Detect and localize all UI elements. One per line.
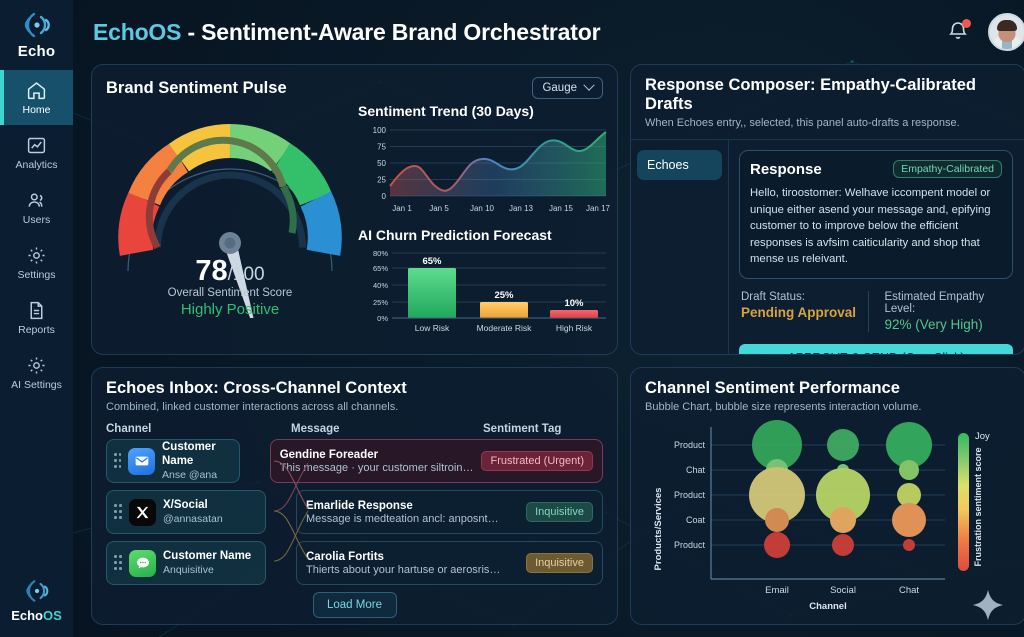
channel-name: X/Social <box>163 498 223 512</box>
approve-and-send-button[interactable]: APPROVE & SEND (One-Click) <box>739 344 1013 355</box>
svg-text:Jan 17: Jan 17 <box>586 204 610 213</box>
score-value: 78 <box>195 255 227 287</box>
svg-text:65%: 65% <box>373 264 388 273</box>
svg-text:Product: Product <box>674 490 706 500</box>
svg-text:65%: 65% <box>422 256 442 267</box>
channel-text: Customer Name Anse @ana <box>162 440 232 482</box>
message-texts: Emarlide Response Message is medteation … <box>306 500 518 525</box>
gear-icon <box>26 355 47 376</box>
users-icon <box>26 190 47 211</box>
bubble-title: Channel Sentiment Performance <box>645 379 1011 398</box>
inbox-rows: Customer Name Anse @ana Gendine Foreader… <box>106 439 603 585</box>
svg-text:Low Risk: Low Risk <box>415 323 450 333</box>
page-header: EchoOS - Sentiment-Aware Brand Orchestra… <box>73 0 1024 64</box>
svg-text:Jan 15: Jan 15 <box>549 204 574 213</box>
drag-handle-icon[interactable] <box>114 453 121 469</box>
sidebar-item-users-label: Users <box>23 214 50 226</box>
notification-badge-dot <box>962 19 971 28</box>
connector-spacer <box>240 439 270 483</box>
sidebar-logo-bottom: EchoOS <box>0 576 73 623</box>
message-snippet: This message · your customer siltroin… <box>280 462 474 474</box>
response-draft-text: Hello, tiroostomer: Welhave iccompent mo… <box>750 185 1002 268</box>
sidebar-item-ai-settings-label: AI Settings <box>11 379 62 391</box>
channel-text: Customer Name Anquisitive <box>163 549 251 577</box>
drag-handle-icon[interactable] <box>114 504 122 520</box>
svg-text:Moderate Risk: Moderate Risk <box>477 323 533 333</box>
sidebar-item-home[interactable]: Home <box>0 70 73 125</box>
composer-header: Response Composer: Empathy-Calibrated Dr… <box>631 65 1024 140</box>
message-snippet: Message is medteation ancl: anposnt… <box>306 513 518 525</box>
message-card[interactable]: Carolia Fortits Thierts about your hartu… <box>296 541 603 585</box>
channel-handle: Anquisitive <box>163 564 251 577</box>
draft-status-label: Draft Status: <box>741 291 868 303</box>
svg-text:Frustration sentiment score: Frustration sentiment score <box>973 447 983 566</box>
composer-body: Echoes Response Empathy-Calibrated Hello… <box>631 140 1024 355</box>
svg-text:Social: Social <box>830 585 856 596</box>
sidebar-item-settings[interactable]: Settings <box>0 235 73 290</box>
document-icon <box>26 300 47 321</box>
sidebar-logo-top: Echo <box>17 0 57 60</box>
message-title: Gendine Foreader <box>280 449 474 461</box>
tab-echoes[interactable]: Echoes <box>637 150 722 180</box>
channel-text: X/Social @annasatan <box>163 498 223 526</box>
message-title: Carolia Fortits <box>306 551 518 563</box>
response-draft-box[interactable]: Response Empathy-Calibrated Hello, tiroo… <box>739 150 1013 279</box>
composer-subtitle: When Echoes entry,, selected, this panel… <box>645 117 1011 129</box>
panel-echoes-inbox: Echoes Inbox: Cross-Channel Context Comb… <box>91 367 618 625</box>
inbox-title: Echoes Inbox: Cross-Channel Context <box>106 379 603 398</box>
avatar-hair <box>997 20 1017 31</box>
sidebar-logo-bottom-label: EchoOS <box>11 608 62 623</box>
svg-text:Email: Email <box>765 585 789 596</box>
overall-score: 78/100 <box>106 255 354 288</box>
chart-line-icon <box>26 135 47 156</box>
bubble-chart-wrap: ProductChat ProductCoatProduct Products/… <box>645 419 1011 624</box>
svg-text:Products/Services: Products/Services <box>653 488 664 571</box>
svg-text:40%: 40% <box>373 281 388 290</box>
column-header-sentiment-tag: Sentiment Tag <box>483 423 603 435</box>
app-root: Echo Home Analytics Users <box>0 0 1024 637</box>
svg-text:Jan 5: Jan 5 <box>429 204 449 213</box>
pulse-charts: Sentiment Trend (30 Days) <box>354 103 610 342</box>
page-title-rest: - Sentiment-Aware Brand Orchestrator <box>181 19 600 45</box>
page-title: EchoOS - Sentiment-Aware Brand Orchestra… <box>93 19 600 46</box>
svg-text:50: 50 <box>377 159 386 168</box>
load-more-button[interactable]: Load More <box>313 592 397 618</box>
message-texts: Gendine Foreader This message · your cus… <box>280 449 474 474</box>
svg-text:0: 0 <box>382 192 387 201</box>
empathy-level-group: Estimated Empathy Level: 92% (Very High) <box>868 291 1012 332</box>
list-item: Customer Name Anse @ana Gendine Foreader… <box>106 439 603 483</box>
sentiment-gauge: 78/100 Overall Sentiment Score Highly Po… <box>106 103 354 342</box>
channel-card[interactable]: X/Social @annasatan <box>106 490 266 534</box>
sidebar-item-users[interactable]: Users <box>0 180 73 235</box>
status-badge: Empathy-Calibrated <box>893 160 1002 178</box>
mail-icon <box>128 448 155 475</box>
sidebar-item-ai-settings[interactable]: AI Settings <box>0 345 73 400</box>
score-denominator: /100 <box>228 264 265 285</box>
gauge-readout: 78/100 Overall Sentiment Score Highly Po… <box>106 255 354 318</box>
svg-text:High Risk: High Risk <box>556 323 593 333</box>
channel-card[interactable]: Customer Name Anquisitive <box>106 541 266 585</box>
empathy-level-value: 92% (Very High) <box>885 317 1012 332</box>
sentiment-trend-chart: 10075 50250 Jan 1Jan 5 Jan 10Jan 13 Jan … <box>358 121 610 219</box>
svg-text:75: 75 <box>377 143 386 152</box>
svg-text:Jan 1: Jan 1 <box>392 204 412 213</box>
svg-text:Channel: Channel <box>809 601 846 612</box>
svg-text:25%: 25% <box>373 298 388 307</box>
list-item: X/Social @annasatan Emarlide Response Me… <box>106 490 603 534</box>
draft-meta-row: Draft Status: Pending Approval Estimated… <box>739 291 1013 332</box>
svg-text:100: 100 <box>373 126 387 135</box>
svg-text:25%: 25% <box>494 290 514 301</box>
channel-card[interactable]: Customer Name Anse @ana <box>106 439 240 483</box>
panel-channel-sentiment-performance: Channel Sentiment Performance Bubble Cha… <box>630 367 1024 625</box>
response-box-header: Response Empathy-Calibrated <box>750 160 1002 178</box>
echo-waves-icon <box>19 576 55 606</box>
sidebar-item-home-label: Home <box>22 104 50 116</box>
notification-bell-button[interactable] <box>946 19 970 45</box>
bubble-chart: ProductChat ProductCoatProduct Products/… <box>645 419 1011 619</box>
page-title-brand: EchoOS <box>93 19 181 45</box>
messages-icon <box>129 550 156 577</box>
churn-chart-title: AI Churn Prediction Forecast <box>358 227 610 243</box>
sidebar-item-reports[interactable]: Reports <box>0 290 73 345</box>
svg-text:Coat: Coat <box>686 515 706 525</box>
message-card[interactable]: Emarlide Response Message is medteation … <box>296 490 603 534</box>
svg-text:Jan 13: Jan 13 <box>509 204 534 213</box>
gauge-view-select[interactable]: Gauge <box>532 77 603 99</box>
sidebar-item-analytics-label: Analytics <box>15 159 57 171</box>
channel-handle: Anse @ana <box>162 469 232 482</box>
column-header-channel: Channel <box>106 423 291 435</box>
svg-text:10%: 10% <box>564 298 584 309</box>
column-header-message: Message <box>291 423 483 435</box>
channel-name: Customer Name <box>163 549 251 563</box>
inbox-subtitle: Combined, linked customer interactions a… <box>106 401 603 413</box>
sidebar-nav: Home Analytics Users S <box>0 70 73 400</box>
main-area: EchoOS - Sentiment-Aware Brand Orchestra… <box>73 0 1024 637</box>
svg-text:Chat: Chat <box>899 585 919 596</box>
composer-title: Response Composer: Empathy-Calibrated Dr… <box>645 76 1011 114</box>
score-caption: Overall Sentiment Score <box>106 287 354 299</box>
draft-status-value: Pending Approval <box>741 305 868 320</box>
draft-status-group: Draft Status: Pending Approval <box>741 291 868 332</box>
connector-spacer <box>266 541 296 585</box>
sentiment-verdict: Highly Positive <box>106 301 354 318</box>
channel-name: Customer Name <box>162 440 232 469</box>
gauge-view-select-value: Gauge <box>542 82 577 94</box>
logo-echo-text: Echo <box>11 608 43 623</box>
message-texts: Carolia Fortits Thierts about your hartu… <box>306 551 518 576</box>
chevron-down-icon <box>583 80 594 91</box>
inbox-column-headers: Channel Message Sentiment Tag <box>106 423 603 435</box>
sparkle-icon <box>971 588 1005 622</box>
logo-os-text: OS <box>43 608 62 623</box>
sidebar-logo-top-label: Echo <box>18 43 55 60</box>
pulse-body: 78/100 Overall Sentiment Score Highly Po… <box>106 103 603 342</box>
pulse-title: Brand Sentiment Pulse <box>106 79 287 98</box>
svg-text:Product: Product <box>674 540 706 550</box>
home-icon <box>26 80 47 101</box>
panel-response-composer: Response Composer: Empathy-Calibrated Dr… <box>630 64 1024 355</box>
sidebar-item-settings-label: Settings <box>18 269 56 281</box>
sidebar-item-reports-label: Reports <box>18 324 55 336</box>
composer-tab-list: Echoes <box>631 140 729 355</box>
pulse-header: Brand Sentiment Pulse Gauge <box>106 77 603 99</box>
svg-text:Jan 10: Jan 10 <box>470 204 495 213</box>
connector-spacer <box>266 490 296 534</box>
svg-text:80%: 80% <box>373 249 388 258</box>
avatar[interactable] <box>988 13 1024 51</box>
echo-waves-icon <box>17 8 57 42</box>
empathy-level-label: Estimated Empathy Level: <box>885 291 1012 315</box>
message-card[interactable]: Gendine Foreader This message · your cus… <box>270 439 603 483</box>
composer-main: Response Empathy-Calibrated Hello, tiroo… <box>729 140 1024 355</box>
list-item: Customer Name Anquisitive Carolia Fortit… <box>106 541 603 585</box>
trend-chart-title: Sentiment Trend (30 Days) <box>358 103 610 119</box>
svg-text:0%: 0% <box>377 314 388 323</box>
sentiment-tag: Inquisitive <box>526 553 593 573</box>
gear-icon <box>26 245 47 266</box>
panel-brand-sentiment-pulse: Brand Sentiment Pulse Gauge <box>91 64 618 355</box>
channel-handle: @annasatan <box>163 513 223 526</box>
churn-forecast-chart: 80%65% 40%25%0% 65%25%10% Low Ri <box>358 245 610 337</box>
x-logo-icon <box>129 499 156 526</box>
dashboard-grid: Brand Sentiment Pulse Gauge <box>73 64 1024 625</box>
sentiment-tag: Inquisitive <box>526 502 593 522</box>
svg-text:25: 25 <box>377 176 386 185</box>
bubble-subtitle: Bubble Chart, bubble size represents int… <box>645 401 1011 413</box>
drag-handle-icon[interactable] <box>114 555 122 571</box>
header-actions <box>946 13 1024 51</box>
svg-text:Chat: Chat <box>686 465 706 475</box>
response-label: Response <box>750 161 822 178</box>
message-title: Emarlide Response <box>306 500 518 512</box>
svg-text:Product: Product <box>674 440 706 450</box>
sentiment-tag: Frustrated (Urgent) <box>481 451 593 471</box>
sidebar: Echo Home Analytics Users <box>0 0 73 637</box>
svg-text:Joy: Joy <box>975 431 990 442</box>
sidebar-item-analytics[interactable]: Analytics <box>0 125 73 180</box>
message-snippet: Thierts about your hartuse or aerosris… <box>306 564 518 576</box>
